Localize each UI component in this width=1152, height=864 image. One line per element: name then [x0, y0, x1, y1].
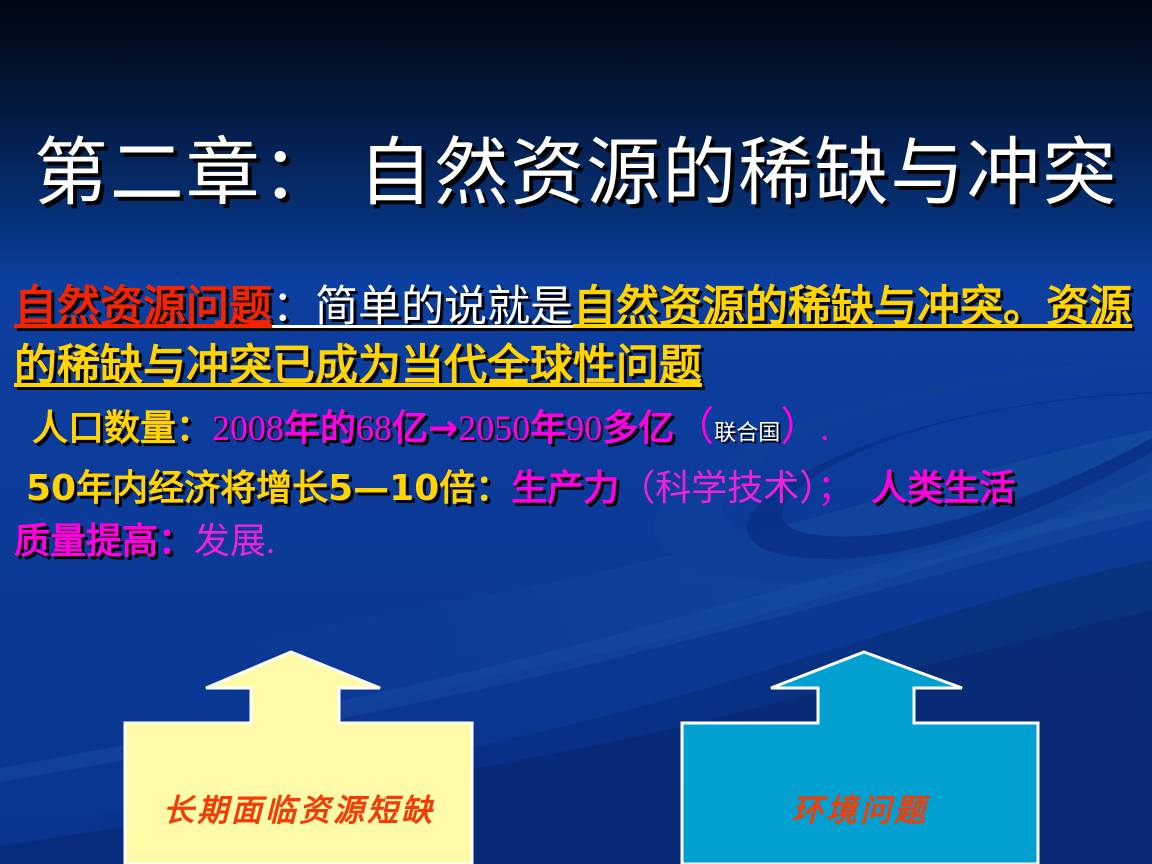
up-arrow-icon-right: [675, 645, 1045, 864]
economy-label: 50年内经济将增长5—10倍：: [26, 468, 511, 509]
population-value-68: 68: [356, 408, 392, 448]
population-label: 人口数量：: [32, 408, 212, 449]
slide-body: 自然资源问题：简单的说就是自然资源的稀缺与冲突。资源的稀缺与冲突已成为当代全球性…: [14, 278, 1144, 567]
quality-label: 质量提高：: [14, 521, 194, 562]
slide-title: 第二章： 自然资源的稀缺与冲突: [0, 128, 1152, 220]
paragraph-definition: 自然资源问题：简单的说就是自然资源的稀缺与冲突。资源的稀缺与冲突已成为当代全球性…: [14, 278, 1144, 396]
population-arrow-icon: →: [428, 408, 458, 449]
population-source: 联合国: [714, 421, 780, 446]
callout-left-label: 长期面临资源短缺: [118, 785, 480, 830]
economy-item-note: （科学技术）: [619, 468, 817, 508]
population-period: .: [820, 408, 829, 448]
economy-item-life: 人类生活: [871, 468, 1015, 509]
term-natural-resource-problem: 自然资源问题: [14, 282, 272, 332]
callout-right[interactable]: 环境问题: [675, 645, 1045, 864]
paragraph-economy: 50年内经济将增长5—10倍：生产力（科学技术）； 人类生活: [14, 463, 1144, 514]
population-mid-b: 年: [530, 408, 566, 449]
economy-item-productivity: 生产力: [511, 468, 619, 509]
up-arrow-icon-left: [118, 645, 480, 864]
source-bracket-open: （: [674, 404, 714, 449]
paragraph-population: 人口数量：2008年的68亿→2050年90多亿（联合国）.: [14, 402, 1144, 459]
definition-connector: ：简单的说就是: [272, 284, 573, 331]
callout-right-label: 环境问题: [675, 785, 1045, 830]
quality-value: 发展.: [194, 521, 275, 561]
population-unit-a: 亿: [392, 408, 428, 449]
population-year-2008: 2008: [212, 408, 284, 448]
population-unit-b: 多亿: [602, 408, 674, 449]
economy-separator: ；: [817, 468, 853, 508]
population-value-90: 90: [566, 408, 602, 448]
slide-canvas: 第二章： 自然资源的稀缺与冲突 自然资源问题：简单的说就是自然资源的稀缺与冲突。…: [0, 0, 1152, 864]
source-bracket-close: ）: [780, 404, 820, 449]
paragraph-quality: 质量提高：发展.: [14, 516, 1144, 567]
callout-left[interactable]: 长期面临资源短缺: [118, 645, 480, 864]
population-mid-a: 年的: [284, 408, 356, 449]
population-year-2050: 2050: [458, 408, 530, 448]
